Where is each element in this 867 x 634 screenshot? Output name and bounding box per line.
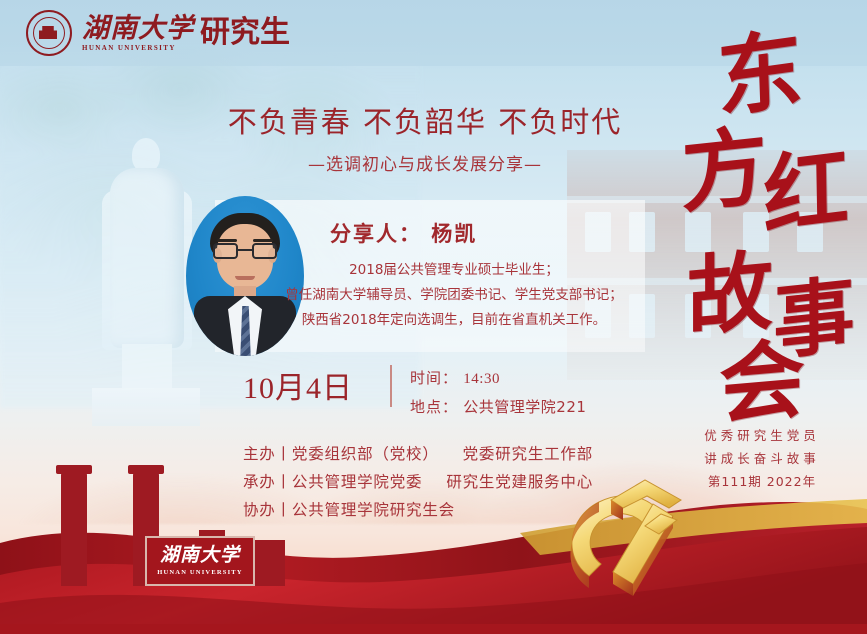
cpc-hammer-sickle-emblem-icon <box>549 474 739 606</box>
event-time-value: 14:30 <box>463 371 500 387</box>
speaker-bio-line: 曾任湖南大学辅导员、学院团委书记、学生党支部书记； <box>262 283 646 308</box>
speaker-bio-line: 陕西省2018年定向选调生，目前在省直机关工作。 <box>262 308 646 333</box>
series-line-2: 讲成长奋斗故事 <box>662 447 862 470</box>
header-university-cn: 湖南大学 <box>82 15 194 42</box>
hunan-university-seal-icon <box>26 10 72 56</box>
calligraphy-char: 会 <box>719 336 805 430</box>
event-date: 10月4日 <box>243 363 353 407</box>
event-details: 时间： 14:30 地点： 公共管理学院221 <box>410 364 586 421</box>
organizer-row: 承办丨公共管理学院党委研究生党建服务中心 <box>243 468 593 496</box>
header-graduate-label: 研究生 <box>200 18 290 48</box>
calligraphy-char: 方 <box>680 123 767 218</box>
event-time-row: 时间： 14:30 <box>410 364 586 393</box>
organizer-role: 主办 <box>243 445 276 463</box>
speaker-bio-line: 2018届公共管理专业硕士毕业生； <box>262 258 646 283</box>
event-place-label: 地点： <box>410 398 458 416</box>
organizer-row: 主办丨党委组织部（党校）党委研究生工作部 <box>243 440 593 468</box>
calligraphy-char: 东 <box>716 26 804 124</box>
footer-strip <box>0 624 867 634</box>
calligraphy-char: 故 <box>687 248 773 342</box>
hunan-university-plaque: 湖南大学 HUNAN UNIVERSITY <box>145 536 255 586</box>
series-line-1: 优秀研究生党员 <box>662 424 862 447</box>
poster-canvas: 湖南大学 HUNAN UNIVERSITY 研究生 不负青春 不负韶华 不负时代… <box>0 0 867 634</box>
speaker-bio: 2018届公共管理专业硕士毕业生； 曾任湖南大学辅导员、学院团委书记、学生党支部… <box>262 258 646 333</box>
event-place-row: 地点： 公共管理学院221 <box>410 393 586 421</box>
organizer-primary: 党委组织部（党校） <box>292 445 439 463</box>
organizer-primary: 公共管理学院党委 <box>292 473 422 491</box>
page-title: 不负青春 不负韶华 不负时代 <box>200 99 650 141</box>
plaque-university-cn: 湖南大学 <box>160 546 240 565</box>
speaker-name: 分享人： 杨凯 <box>330 218 630 248</box>
page-subtitle: —选调初心与成长发展分享— <box>200 150 650 175</box>
organizer-sep: 丨 <box>276 445 292 463</box>
header-university-en: HUNAN UNIVERSITY <box>82 44 194 52</box>
plaque-university-en: HUNAN UNIVERSITY <box>157 569 242 576</box>
vertical-divider <box>390 365 392 407</box>
hunan-university-wordmark: 湖南大学 HUNAN UNIVERSITY <box>82 15 194 52</box>
organizer-secondary: 党委研究生工作部 <box>463 445 593 463</box>
event-time-label: 时间： <box>410 369 458 387</box>
event-place-value: 公共管理学院221 <box>463 398 586 416</box>
calligraphy-title: 东 方 红 故 事 会 <box>675 30 860 425</box>
calligraphy-char: 红 <box>763 145 850 242</box>
